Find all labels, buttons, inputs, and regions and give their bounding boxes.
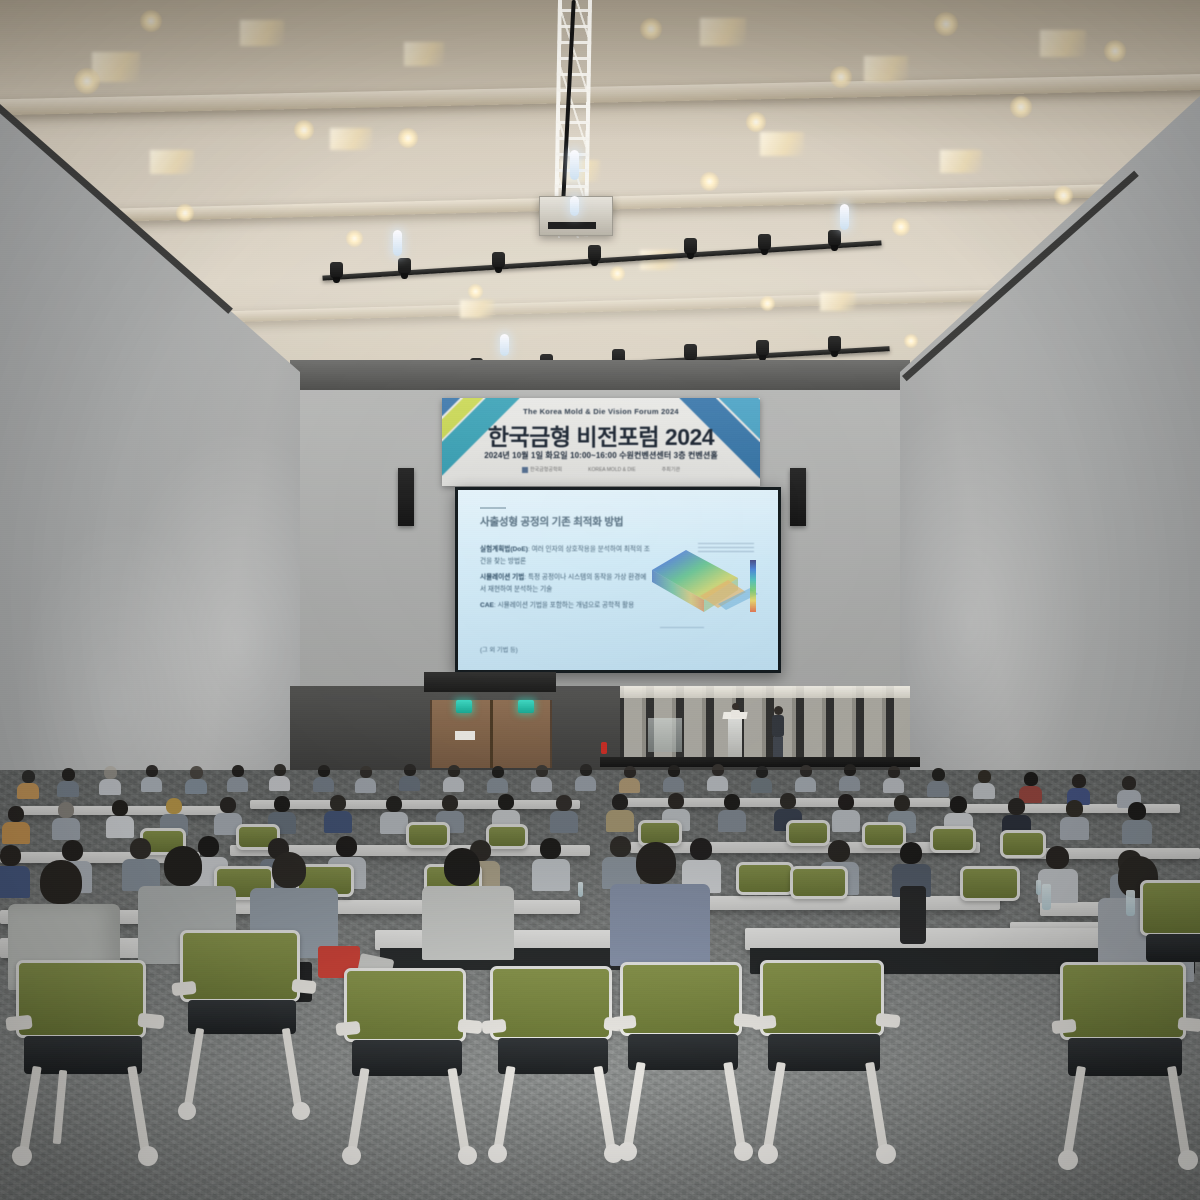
audience-member	[668, 765, 684, 792]
audience-member	[838, 794, 860, 832]
audience-member	[386, 796, 408, 834]
audience-member	[22, 770, 39, 799]
audience-member	[330, 795, 352, 833]
audience-member	[756, 766, 772, 793]
audience-member	[1066, 800, 1089, 840]
water-bottle	[1042, 884, 1051, 910]
audience-member	[556, 795, 578, 833]
audience-member	[62, 768, 79, 797]
water-bottle	[1126, 890, 1135, 916]
thermos	[900, 886, 926, 944]
table	[250, 800, 580, 809]
audience-member	[190, 766, 207, 794]
audience-member	[1128, 802, 1152, 844]
audience-member	[888, 766, 904, 793]
audience-member	[274, 764, 290, 791]
audience-member	[104, 766, 121, 795]
water-bottle	[578, 882, 583, 897]
audience-member	[232, 765, 248, 792]
audience-member	[492, 766, 508, 793]
audience-member	[8, 806, 30, 844]
audience-member	[536, 765, 552, 792]
audience-member	[844, 764, 860, 791]
audience-member	[624, 766, 640, 793]
audience-member	[318, 765, 334, 792]
audience-member	[146, 765, 162, 792]
audience-member	[540, 838, 570, 891]
conference-hall-photo: The Korea Mold & Die Vision Forum 2024 한…	[0, 0, 1200, 1200]
audience-member	[112, 800, 134, 838]
audience-member	[724, 794, 746, 832]
audience-area	[0, 0, 1200, 1200]
audience-member	[620, 842, 710, 966]
audience-member	[404, 764, 420, 791]
audience-member	[58, 802, 80, 840]
audience-member	[360, 766, 376, 793]
audience-member	[430, 848, 514, 960]
audience-member	[978, 770, 995, 799]
audience-member	[612, 794, 634, 832]
audience-member	[932, 768, 949, 797]
audience-member	[712, 764, 728, 791]
water-bottle	[1036, 880, 1041, 895]
audience-member	[448, 765, 464, 792]
audience-member	[580, 764, 596, 791]
audience-member	[800, 765, 816, 792]
